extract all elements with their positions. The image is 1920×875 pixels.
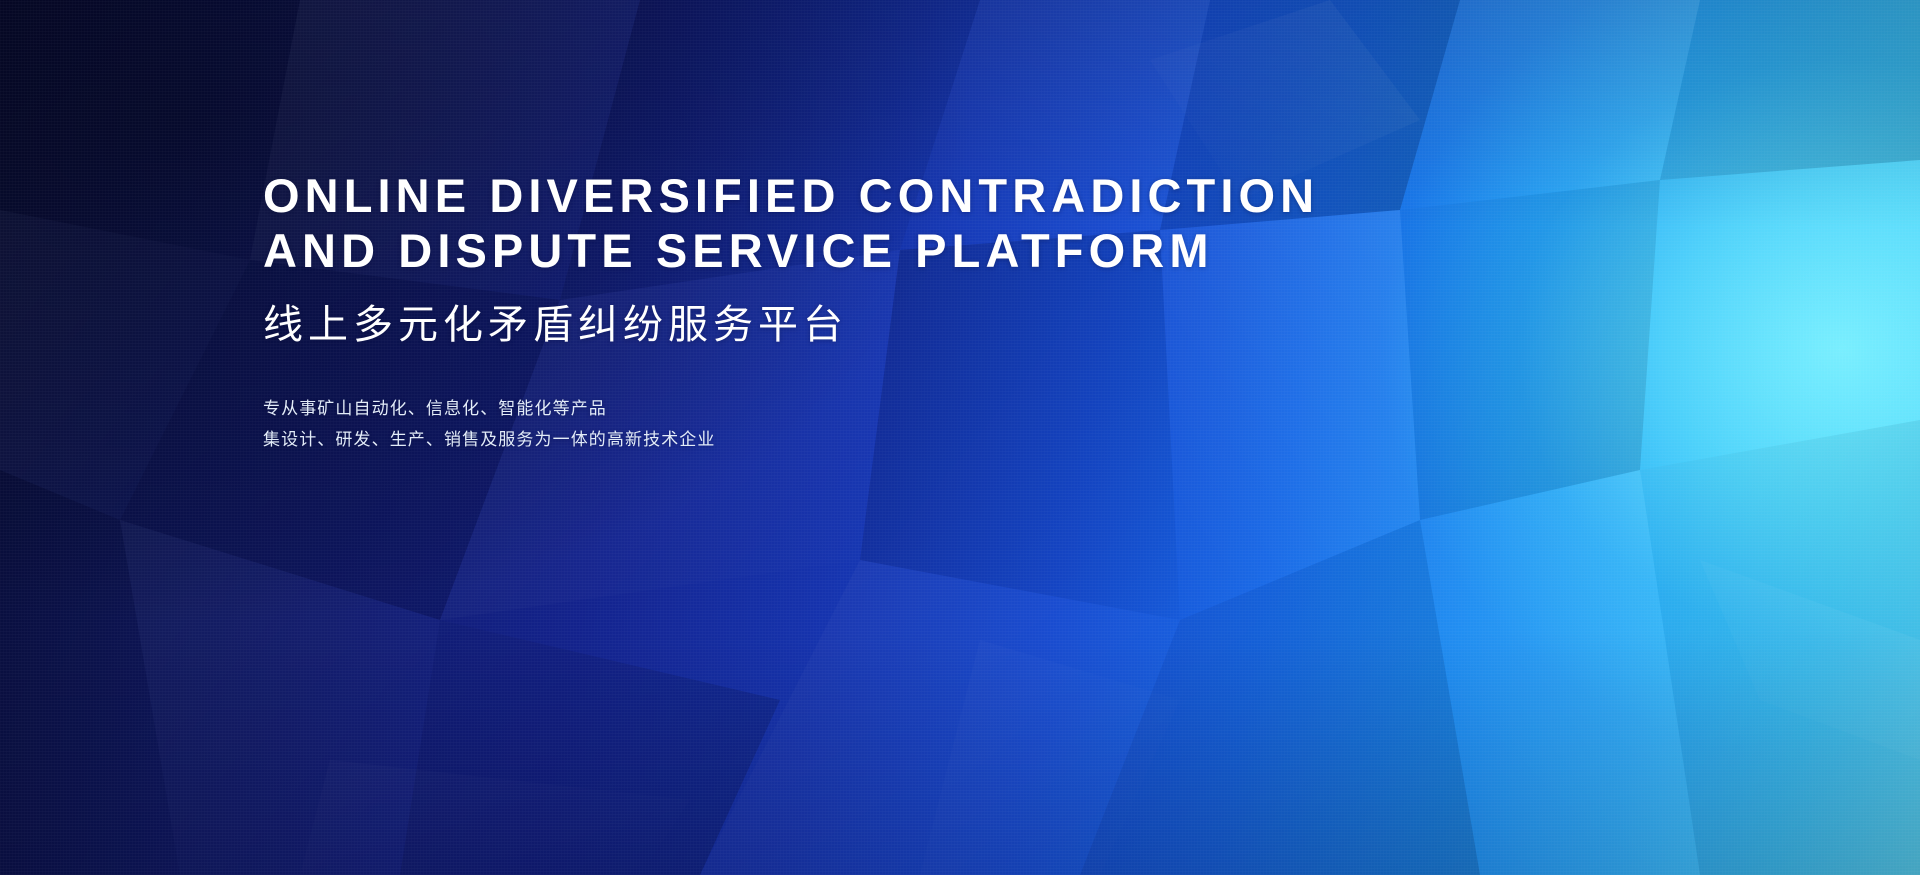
headline-english-line-2: AND DISPUTE SERVICE PLATFORM [263,223,1463,278]
description-block: 专从事矿山自动化、信息化、智能化等产品 集设计、研发、生产、销售及服务为一体的高… [263,393,1463,455]
headline-english-line-1: ONLINE DIVERSIFIED CONTRADICTION [263,168,1463,223]
headline-chinese: 线上多元化矛盾纠纷服务平台 [263,298,1463,352]
hero-banner: ONLINE DIVERSIFIED CONTRADICTION AND DIS… [0,0,1920,875]
description-line-1: 专从事矿山自动化、信息化、智能化等产品 [263,393,1463,424]
description-line-2: 集设计、研发、生产、销售及服务为一体的高新技术企业 [263,424,1463,455]
banner-content: ONLINE DIVERSIFIED CONTRADICTION AND DIS… [263,168,1463,455]
